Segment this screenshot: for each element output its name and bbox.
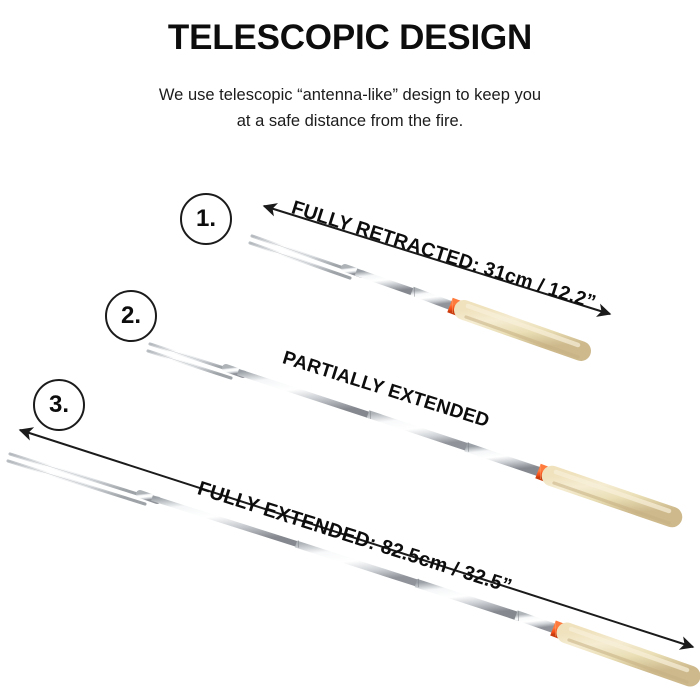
step-badge-1: 1. [180, 193, 232, 245]
step-badge-2: 2. [105, 290, 157, 342]
step-badge-1-label: 1. [196, 205, 216, 233]
skewer-1-shaft-outer [412, 291, 452, 306]
skewer-1-tines [250, 236, 352, 278]
skewer-1-shaft-inner [356, 272, 416, 293]
skewer-2-handle [552, 476, 672, 517]
step-badge-3-label: 3. [49, 391, 69, 419]
infographic-page: TELESCOPIC DESIGN We use telescopic “ant… [0, 0, 700, 700]
product-illustration [0, 0, 700, 700]
skewer-3-shaft-seg4 [516, 615, 556, 629]
skewer-3-tines [8, 454, 147, 504]
skewer-1-handle [464, 310, 581, 351]
step-badge-3: 3. [33, 379, 85, 431]
step-badge-2-label: 2. [121, 302, 141, 330]
skewer-2-shaft-seg3 [466, 447, 540, 472]
skewer-2-tines [148, 344, 233, 378]
